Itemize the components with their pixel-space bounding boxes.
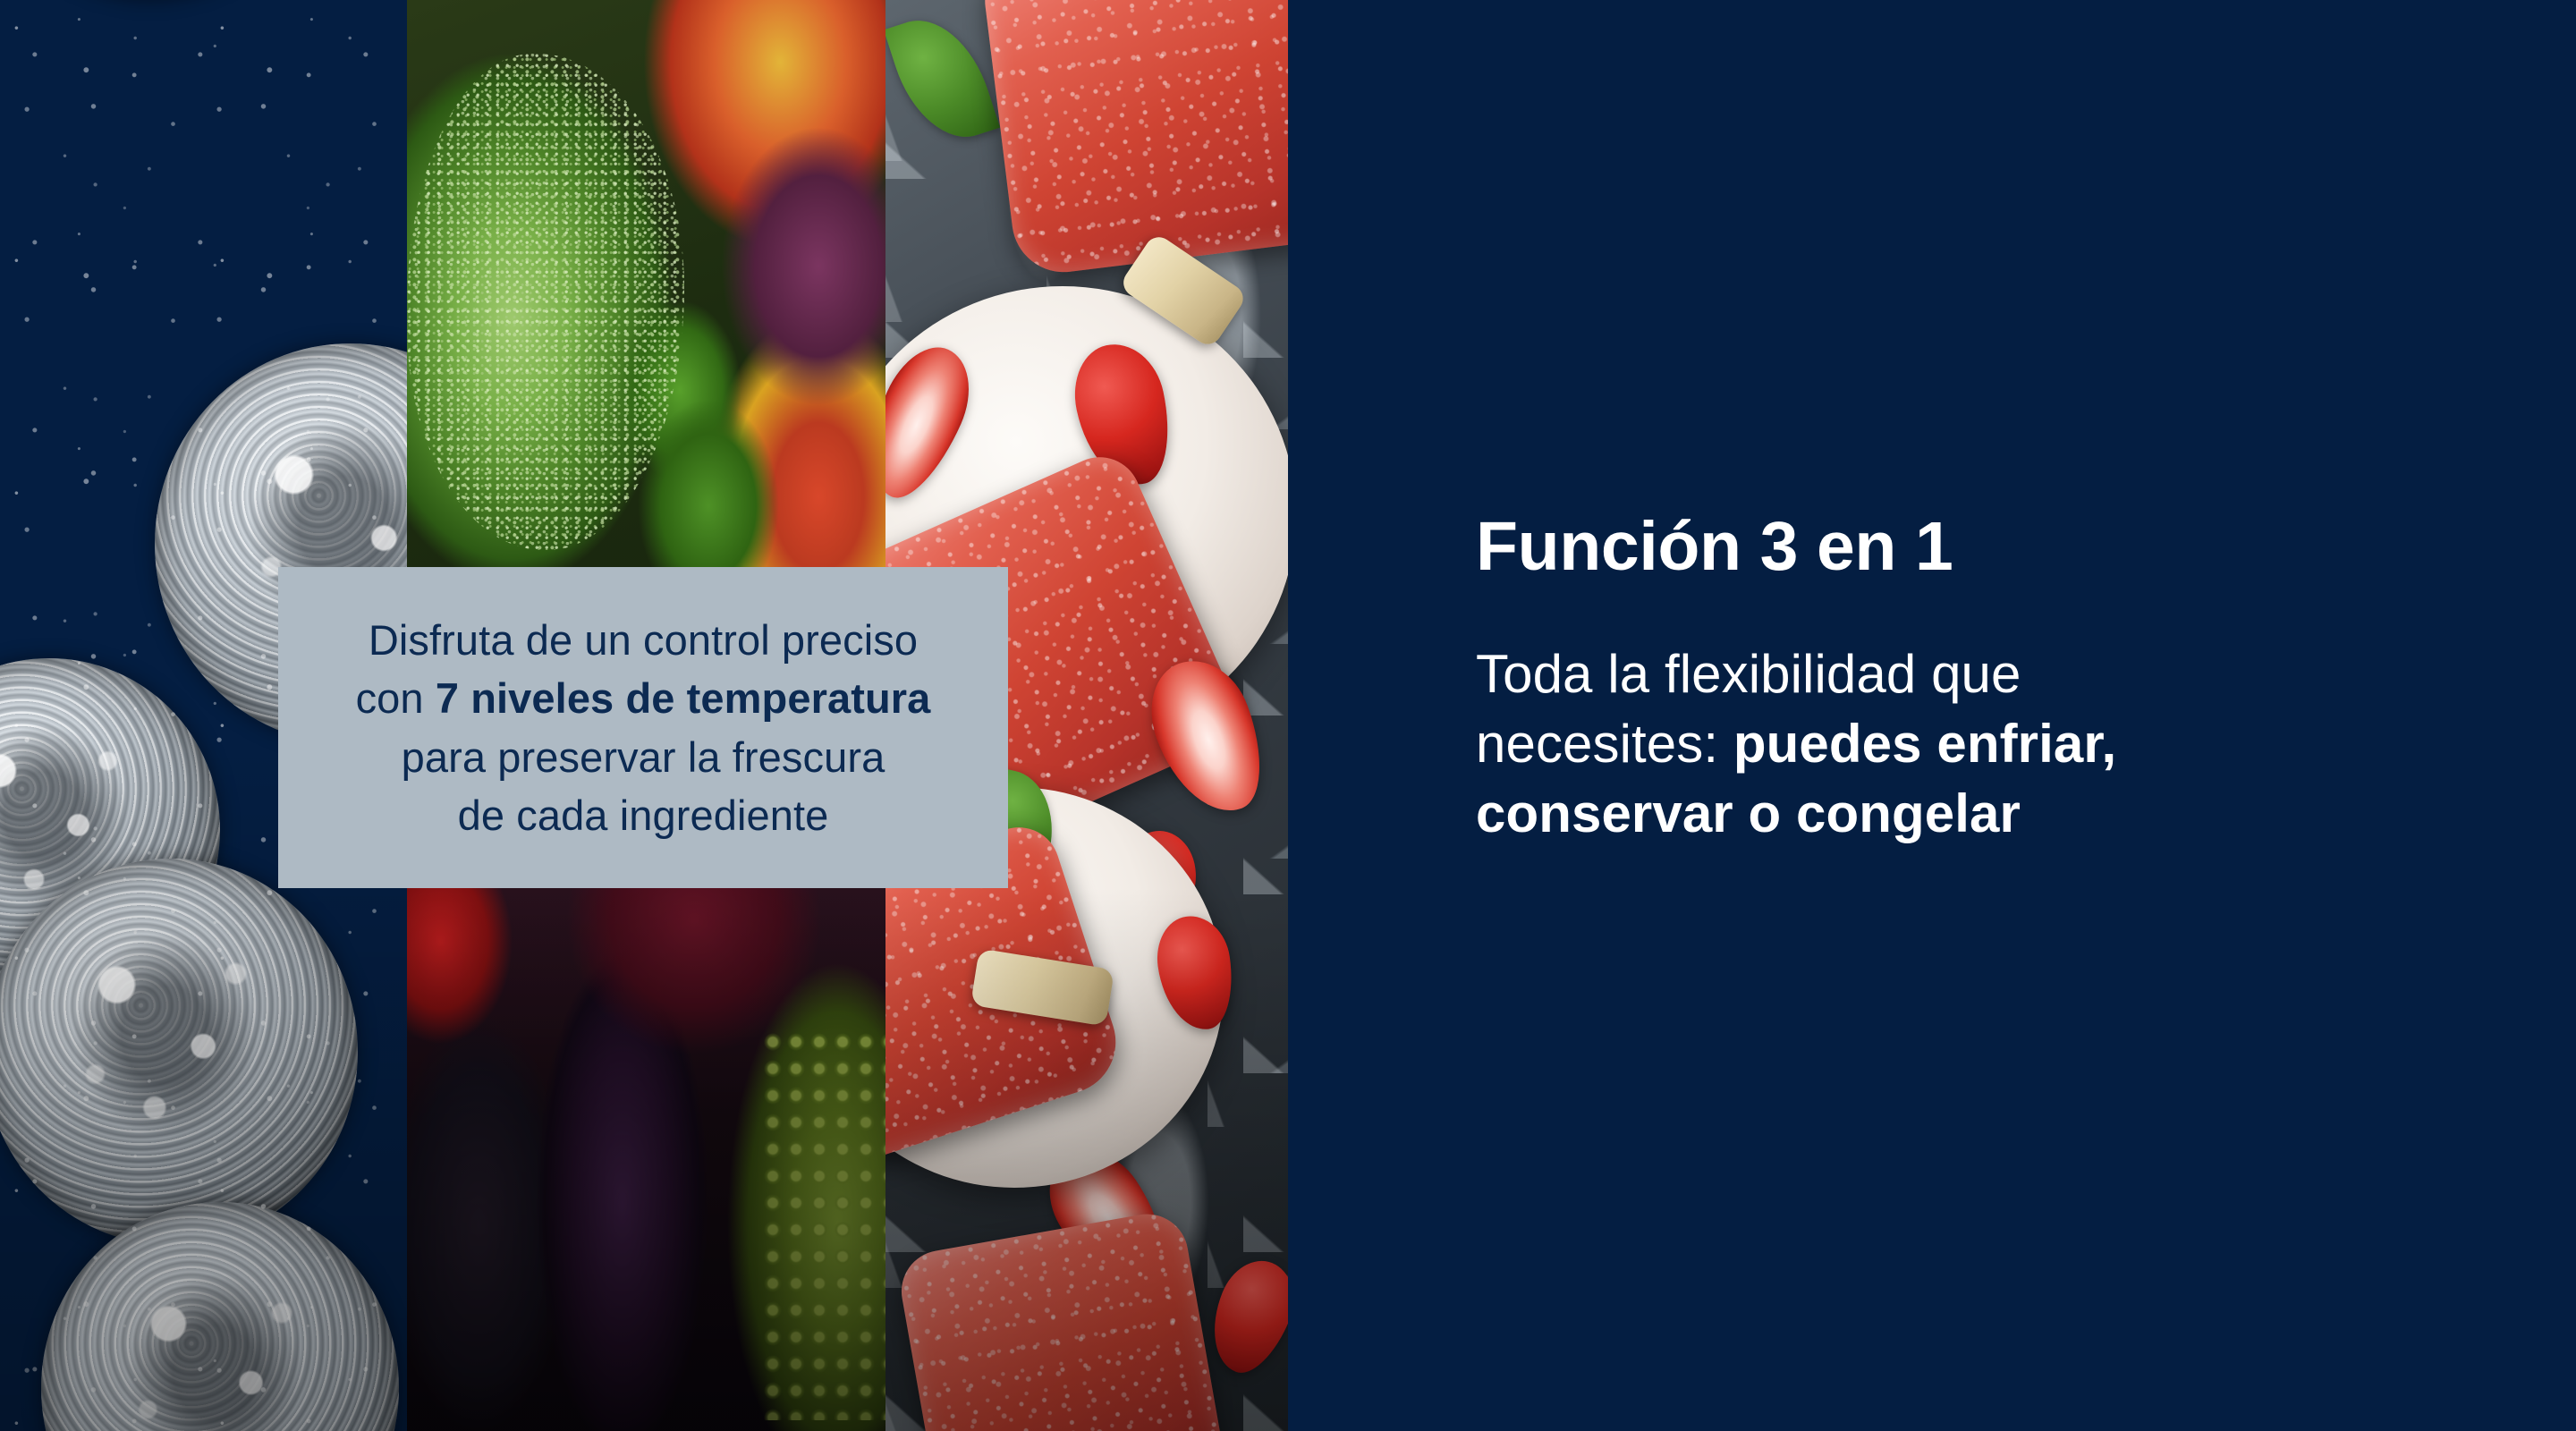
navy-text-panel: Función 3 en 1 Toda la flexibilidad que …: [1288, 0, 2576, 1431]
panel-content: Función 3 en 1 Toda la flexibilidad que …: [1476, 510, 2370, 849]
romanesco-icon: [761, 1029, 885, 1420]
produce-bottom-half: [407, 887, 885, 1431]
panel-body-line-1: Toda la flexibilidad que: [1476, 644, 2021, 704]
page-title: Función 3 en 1: [1476, 510, 2370, 584]
panel-body-text: Toda la flexibilidad que necesites: pued…: [1476, 639, 2370, 849]
caption-line-3: para preservar la frescura: [356, 728, 931, 786]
caption-text: Disfruta de un control preciso con 7 niv…: [329, 611, 958, 844]
popsicle-icon: [980, 0, 1288, 278]
broccoli-icon: [407, 54, 684, 551]
caption-line-2-prefix: con: [356, 674, 436, 722]
caption-line-2: con 7 niveles de temperatura: [356, 669, 931, 727]
panel-body-line-2-highlight: puedes enfriar,: [1733, 714, 2116, 774]
caption-card: Disfruta de un control preciso con 7 niv…: [278, 567, 1008, 888]
caption-line-1: Disfruta de un control preciso: [356, 611, 931, 669]
caption-line-2-highlight: 7 niveles de temperatura: [436, 674, 931, 722]
panel-body-line-2-prefix: necesites:: [1476, 714, 1733, 774]
panel-body-line-3-highlight: conservar o congelar: [1476, 783, 2021, 843]
promo-slide: Disfruta de un control preciso con 7 niv…: [0, 0, 2576, 1431]
caption-line-4: de cada ingrediente: [356, 786, 931, 844]
